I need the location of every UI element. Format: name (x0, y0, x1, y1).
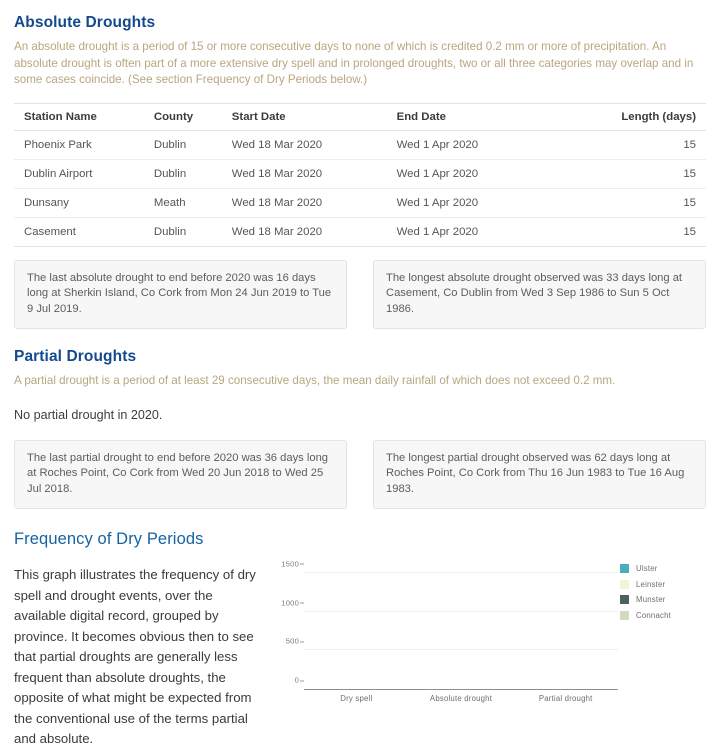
chart-legend: UlsterLeinsterMunsterConnacht (620, 561, 706, 623)
legend-label: Leinster (636, 580, 665, 589)
cell-end-date: Wed 1 Apr 2020 (387, 130, 612, 159)
chart-gridline (304, 572, 618, 573)
chart-bar-slot: Dry spell (304, 565, 409, 689)
cell-length-days: 15 (611, 159, 706, 188)
cell-station-name: Phoenix Park (14, 130, 144, 159)
chart-bar-slot: Absolute drought (409, 565, 514, 689)
last-absolute-drought-box: The last absolute drought to end before … (14, 260, 347, 330)
absolute-droughts-heading: Absolute Droughts (14, 0, 706, 32)
table-row: Dunsany Meath Wed 18 Mar 2020 Wed 1 Apr … (14, 188, 706, 217)
table-row: Phoenix Park Dublin Wed 18 Mar 2020 Wed … (14, 130, 706, 159)
cell-station-name: Dublin Airport (14, 159, 144, 188)
legend-item-ulster[interactable]: Ulster (620, 561, 706, 577)
longest-partial-drought-box: The longest partial drought observed was… (373, 440, 706, 510)
chart-bars: Dry spellAbsolute droughtPartial drought (304, 565, 618, 689)
legend-label: Connacht (636, 611, 671, 620)
chart-y-tick-label: 0 (295, 676, 304, 685)
chart-bar-slot: Partial drought (513, 565, 618, 689)
dry-periods-chart: Dry spellAbsolute droughtPartial drought… (274, 555, 706, 730)
column-header-station-name: Station Name (14, 104, 144, 131)
partial-droughts-definition: A partial drought is a period of at leas… (14, 373, 706, 390)
chart-y-tick-label: 1000 (281, 598, 304, 607)
last-partial-drought-box: The last partial drought to end before 2… (14, 440, 347, 510)
cell-length-days: 15 (611, 130, 706, 159)
cell-start-date: Wed 18 Mar 2020 (222, 188, 387, 217)
chart-gridline (304, 611, 618, 612)
legend-swatch-icon (620, 564, 629, 573)
cell-length-days: 15 (611, 217, 706, 246)
cell-end-date: Wed 1 Apr 2020 (387, 217, 612, 246)
partial-droughts-heading: Partial Droughts (14, 329, 706, 366)
frequency-section: This graph illustrates the frequency of … (14, 555, 706, 750)
absolute-droughts-definition: An absolute drought is a period of 15 or… (14, 39, 706, 89)
legend-item-leinster[interactable]: Leinster (620, 577, 706, 593)
partial-drought-status: No partial drought in 2020. (14, 406, 706, 424)
column-header-county: County (144, 104, 222, 131)
legend-label: Munster (636, 595, 666, 604)
chart-x-tick-label: Partial drought (513, 689, 618, 703)
chart-y-tick-label: 1500 (281, 559, 304, 568)
longest-absolute-drought-box: The longest absolute drought observed wa… (373, 260, 706, 330)
absolute-droughts-info-boxes: The last absolute drought to end before … (14, 260, 706, 330)
legend-item-munster[interactable]: Munster (620, 592, 706, 608)
cell-county: Dublin (144, 217, 222, 246)
chart-gridline (304, 649, 618, 650)
table-row: Casement Dublin Wed 18 Mar 2020 Wed 1 Ap… (14, 217, 706, 246)
cell-length-days: 15 (611, 188, 706, 217)
cell-station-name: Casement (14, 217, 144, 246)
cell-end-date: Wed 1 Apr 2020 (387, 188, 612, 217)
legend-swatch-icon (620, 611, 629, 620)
chart-x-tick-label: Dry spell (304, 689, 409, 703)
frequency-description: This graph illustrates the frequency of … (14, 555, 266, 750)
cell-station-name: Dunsany (14, 188, 144, 217)
table-row: Dublin Airport Dublin Wed 18 Mar 2020 We… (14, 159, 706, 188)
frequency-of-dry-periods-heading: Frequency of Dry Periods (14, 509, 706, 549)
chart-y-tick-label: 500 (286, 637, 304, 646)
chart-x-tick-label: Absolute drought (409, 689, 514, 703)
drought-report-page: Absolute Droughts An absolute drought is… (0, 0, 720, 665)
legend-item-connacht[interactable]: Connacht (620, 608, 706, 624)
column-header-start-date: Start Date (222, 104, 387, 131)
table-header-row: Station Name County Start Date End Date … (14, 104, 706, 131)
cell-start-date: Wed 18 Mar 2020 (222, 130, 387, 159)
legend-swatch-icon (620, 595, 629, 604)
column-header-length-days: Length (days) (611, 104, 706, 131)
partial-droughts-info-boxes: The last partial drought to end before 2… (14, 440, 706, 510)
chart-plot-area: Dry spellAbsolute droughtPartial drought… (304, 565, 618, 690)
cell-end-date: Wed 1 Apr 2020 (387, 159, 612, 188)
cell-start-date: Wed 18 Mar 2020 (222, 217, 387, 246)
absolute-droughts-table: Station Name County Start Date End Date … (14, 104, 706, 247)
column-header-end-date: End Date (387, 104, 612, 131)
cell-county: Dublin (144, 130, 222, 159)
cell-county: Dublin (144, 159, 222, 188)
legend-label: Ulster (636, 564, 658, 573)
legend-swatch-icon (620, 580, 629, 589)
cell-start-date: Wed 18 Mar 2020 (222, 159, 387, 188)
absolute-droughts-table-wrapper: Station Name County Start Date End Date … (14, 103, 706, 247)
cell-county: Meath (144, 188, 222, 217)
